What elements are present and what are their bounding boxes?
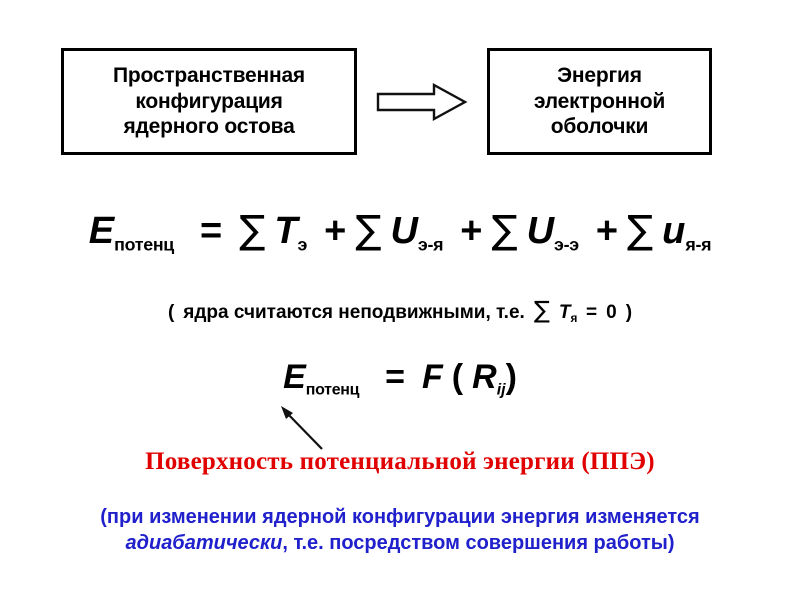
formula-main-sigma-2: ∑ [355,208,381,253]
note-text: ядра считаются неподвижными, т.е. [183,302,525,323]
formula-second-argument-subscript: ij [497,382,506,399]
formula-second-open-paren: ( [452,358,463,396]
blue-caption-emphasis: адиабатически [125,532,282,554]
blue-caption-adiabatic: (при изменении ядерной конфигурации энер… [0,505,800,556]
note-close-paren: ) [626,302,632,323]
note-symbol: T [559,302,571,323]
formula-second-argument: R [472,358,497,396]
formula-main-subscript-4: я-я [685,235,711,255]
formula-main-lhs-subscript: потенц [114,235,174,255]
formula-second-function: F [422,358,443,396]
formula-main-subscript-3: э-э [554,235,579,255]
box-right-line-1: Энергия [557,63,642,89]
formula-main-subscript-2: э-я [418,235,443,255]
note-sigma: ∑ [534,296,550,324]
box-right-line-2: электронной [534,89,665,115]
right-block-arrow-icon [376,82,468,122]
formula-second-lhs-subscript: потенц [306,382,359,399]
box-left-line-1: Пространственная [113,63,305,89]
formula-main-sigma-4: ∑ [627,208,653,253]
note-subscript: я [570,312,577,325]
concept-box-nuclear-configuration: Пространственная конфигурация ядерного о… [61,48,357,155]
blue-caption-line-1: (при изменении ядерной конфигурации энер… [0,505,800,531]
note-value: 0 [606,302,617,323]
formula-main-sigma-1: ∑ [239,208,265,253]
note-fixed-nuclei: (ядра считаются неподвижными, т.е.∑Tя=0) [0,296,800,325]
red-caption-pes: Поверхность потенциальной энергии (ППЭ) [0,448,800,476]
blue-caption-line-2: адиабатически, т.е. посредством совершен… [0,531,800,557]
formula-main-symbol-1: T [274,210,297,252]
formula-main-lhs-symbol: E [89,210,114,252]
concept-box-electron-shell-energy: Энергия электронной оболочки [487,48,712,155]
formula-second-lhs-symbol: E [283,358,306,396]
formula-second-equals: = [385,358,405,396]
box-left-line-3: ядерного остова [123,114,294,140]
formula-main-symbol-4: u [662,210,685,252]
box-right-line-3: оболочки [551,114,648,140]
formula-potential-energy-sum: Eпотенц=∑Tэ+∑Uэ-я+∑Uэ-э+∑uя-я [0,208,800,256]
formula-main-equals: = [200,210,222,252]
box-left-line-2: конфигурация [135,89,282,115]
formula-second-close-paren: ) [506,358,517,396]
formula-main-plus-3: + [596,210,618,252]
up-left-arrow-icon [276,404,328,452]
slide-canvas: Пространственная конфигурация ядерного о… [0,0,800,600]
formula-main-plus-2: + [460,210,482,252]
blue-caption-line-2-post: , т.е. посредством совершения работы) [282,532,674,554]
note-open-paren: ( [168,302,174,323]
note-equals: = [586,302,597,323]
formula-potential-energy-surface: Eпотенц=F(Rij) [0,358,800,400]
formula-main-symbol-3: U [527,210,554,252]
formula-main-subscript-1: э [298,235,308,255]
formula-main-symbol-2: U [390,210,417,252]
formula-main-plus-1: + [324,210,346,252]
formula-main-sigma-3: ∑ [491,208,517,253]
